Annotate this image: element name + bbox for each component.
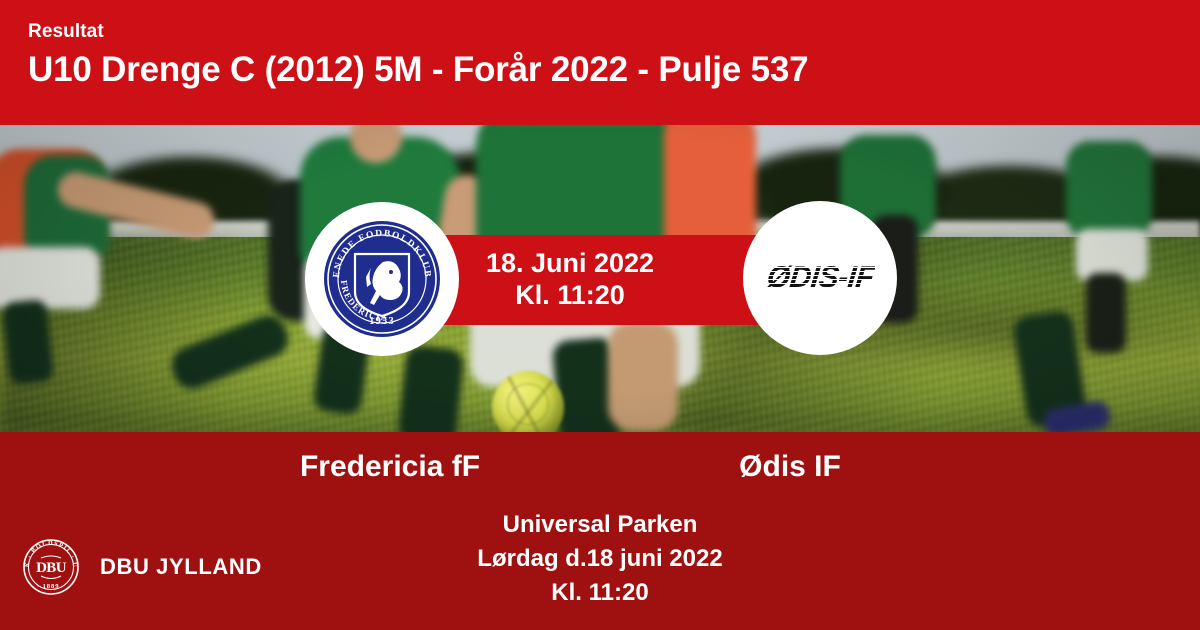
team-names-row: Fredericia fF Ødis IF: [0, 450, 1200, 484]
venue-name: Universal Parken: [0, 508, 1200, 542]
home-team-crest: FORENEDE FODBOLDKLUBBER FREDERICIA 1953: [305, 202, 459, 356]
fredericia-ff-crest-icon: FORENEDE FODBOLDKLUBBER FREDERICIA 1953: [321, 218, 443, 340]
dbu-wordmark: DBU JYLLAND: [100, 554, 262, 580]
home-team-name: Fredericia fF: [0, 450, 600, 484]
page-title: U10 Drenge C (2012) 5M - Forår 2022 - Pu…: [28, 51, 1200, 89]
away-team-name: Ødis IF: [600, 450, 1200, 484]
dbu-seal-icon: DANSK · BOLDSPIL · UNION · 1889 · DBU: [22, 538, 80, 596]
svg-text:1953: 1953: [369, 316, 395, 327]
dbu-jylland-logo: DANSK · BOLDSPIL · UNION · 1889 · DBU DB…: [22, 538, 262, 596]
match-date: 18. Juni 2022: [486, 248, 654, 280]
odis-if-logo-icon: ØDIS-IF: [765, 261, 875, 295]
svg-text:· 1889 ·: · 1889 ·: [37, 583, 65, 590]
svg-text:DBU: DBU: [36, 560, 67, 576]
match-time: Kl. 11:20: [515, 280, 625, 312]
header-banner: Resultat U10 Drenge C (2012) 5M - Forår …: [0, 0, 1200, 125]
header-kicker: Resultat: [28, 22, 1200, 43]
bottom-panel: Fredericia fF Ødis IF Universal Parken L…: [0, 432, 1200, 630]
away-team-crest: ØDIS-IF: [743, 201, 897, 355]
result-poster: Resultat U10 Drenge C (2012) 5M - Forår …: [0, 0, 1200, 630]
